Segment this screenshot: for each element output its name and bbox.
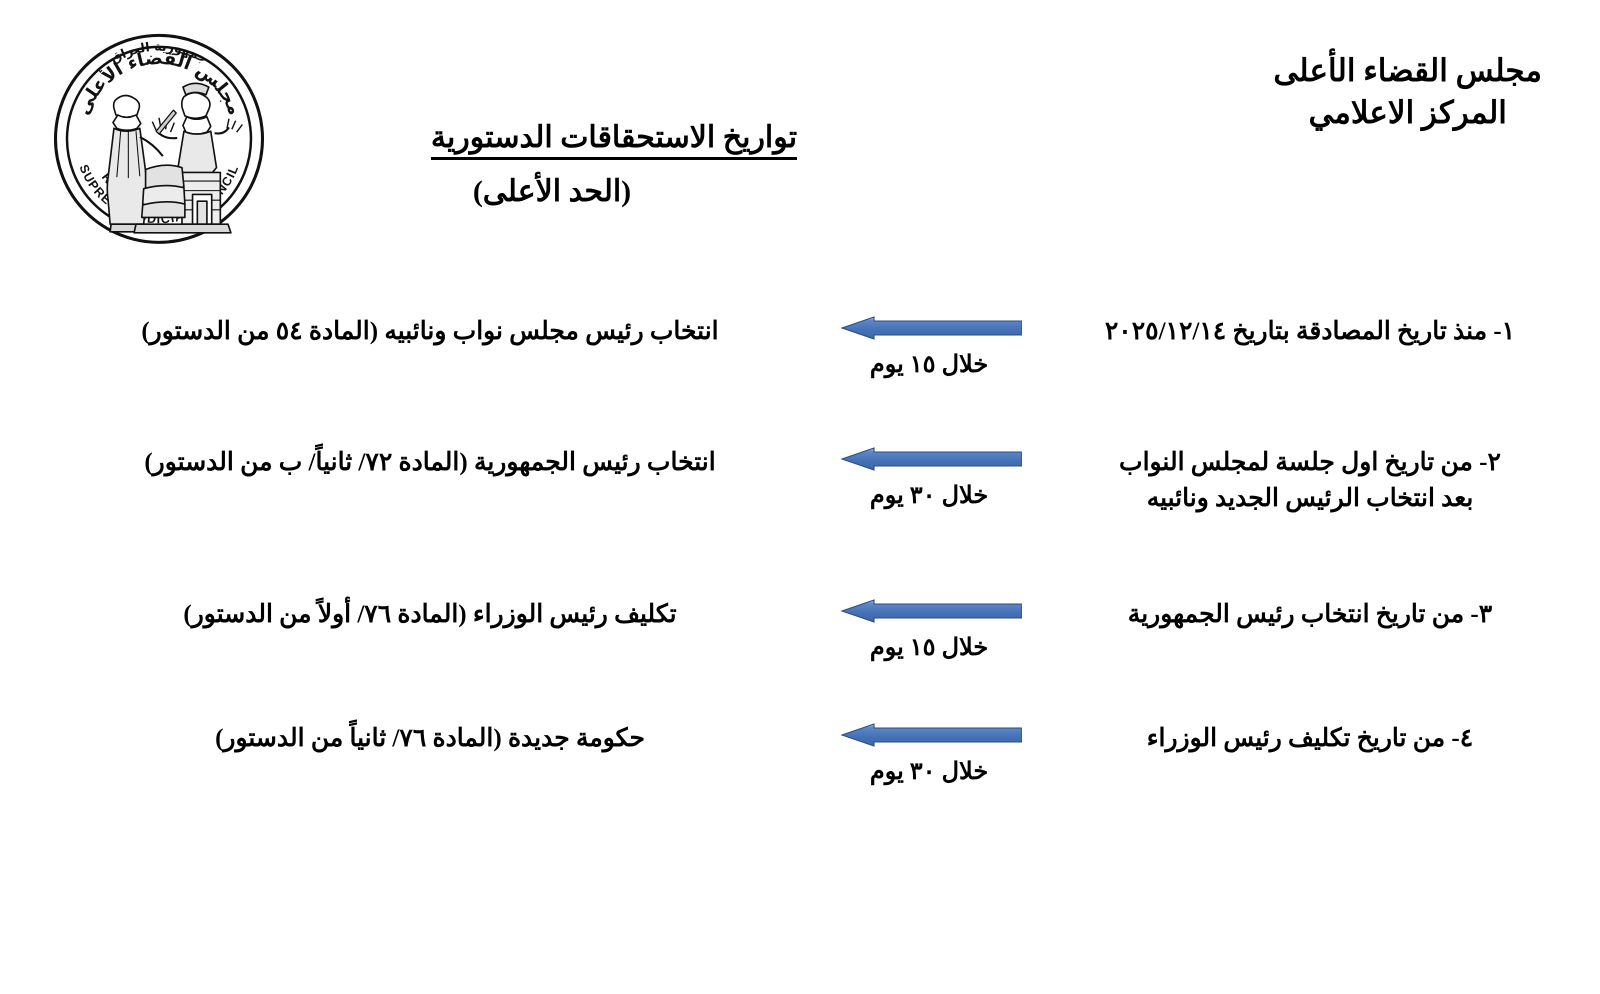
left-arrow-icon xyxy=(840,447,1022,471)
duration-arrow-cell: خلال ٣٠ يوم xyxy=(836,723,1022,786)
trigger-sub: بعد انتخاب الرئيس الجديد ونائبيه xyxy=(1080,481,1540,517)
duration-label: خلال ١٥ يوم xyxy=(836,633,1022,662)
timeline-row: ٤- من تاريخ تكليف رئيس الوزراء خل xyxy=(0,703,1600,834)
trigger-main: ٣- من تاريخ انتخاب رئيس الجمهورية xyxy=(1128,601,1492,628)
duration-arrow-cell: خلال ٣٠ يوم xyxy=(836,447,1022,510)
trigger-text: ١- منذ تاريخ المصادقة بتاريخ ٢٠٢٥/١٢/١٤ xyxy=(1080,314,1540,350)
left-arrow-icon xyxy=(840,316,1022,340)
left-arrow-icon xyxy=(840,723,1022,747)
org-name: مجلس القضاء الأعلى xyxy=(1273,50,1542,92)
organization-header: مجلس القضاء الأعلى المركز الاعلامي xyxy=(1273,50,1542,134)
timeline-row: ٣- من تاريخ انتخاب رئيس الجمهورية xyxy=(0,579,1600,703)
timeline-row: ١- منذ تاريخ المصادقة بتاريخ ٢٠٢٥/١٢/١٤ xyxy=(0,296,1600,427)
trigger-main: ٤- من تاريخ تكليف رئيس الوزراء xyxy=(1147,725,1473,752)
org-department: المركز الاعلامي xyxy=(1273,92,1542,134)
trigger-main: ٢- من تاريخ اول جلسة لمجلس النواب xyxy=(1119,449,1501,476)
trigger-text: ٤- من تاريخ تكليف رئيس الوزراء xyxy=(1080,721,1540,757)
duration-arrow-cell: خلال ١٥ يوم xyxy=(836,599,1022,662)
outcome-text: انتخاب رئيس الجمهورية (المادة ٧٢/ ثانياً… xyxy=(100,445,760,480)
trigger-text: ٢- من تاريخ اول جلسة لمجلس النواب بعد ان… xyxy=(1080,445,1540,518)
outcome-text: انتخاب رئيس مجلس نواب ونائبيه (المادة ٥٤… xyxy=(100,314,760,349)
left-arrow-icon xyxy=(840,599,1022,623)
duration-label: خلال ١٥ يوم xyxy=(836,350,1022,379)
outcome-text: حكومة جديدة (المادة ٧٦/ ثانياً من الدستو… xyxy=(100,721,760,756)
duration-arrow-cell: خلال ١٥ يوم xyxy=(836,316,1022,379)
outcome-text: تكليف رئيس الوزراء (المادة ٧٦/ أولاً من … xyxy=(100,597,760,632)
timeline-rows: ١- منذ تاريخ المصادقة بتاريخ ٢٠٢٥/١٢/١٤ xyxy=(0,296,1600,834)
duration-label: خلال ٣٠ يوم xyxy=(836,481,1022,510)
trigger-main: ١- منذ تاريخ المصادقة بتاريخ ٢٠٢٥/١٢/١٤ xyxy=(1105,318,1515,345)
timeline-row: ٢- من تاريخ اول جلسة لمجلس النواب بعد ان… xyxy=(0,427,1600,579)
duration-label: خلال ٣٠ يوم xyxy=(836,757,1022,786)
supreme-judicial-council-logo: جمهورية العراق مجلس القضاء الأعلى REPUBL… xyxy=(44,16,274,256)
page-title: تواريخ الاستحقاقات الدستورية xyxy=(431,120,797,160)
trigger-text: ٣- من تاريخ انتخاب رئيس الجمهورية xyxy=(1080,597,1540,633)
